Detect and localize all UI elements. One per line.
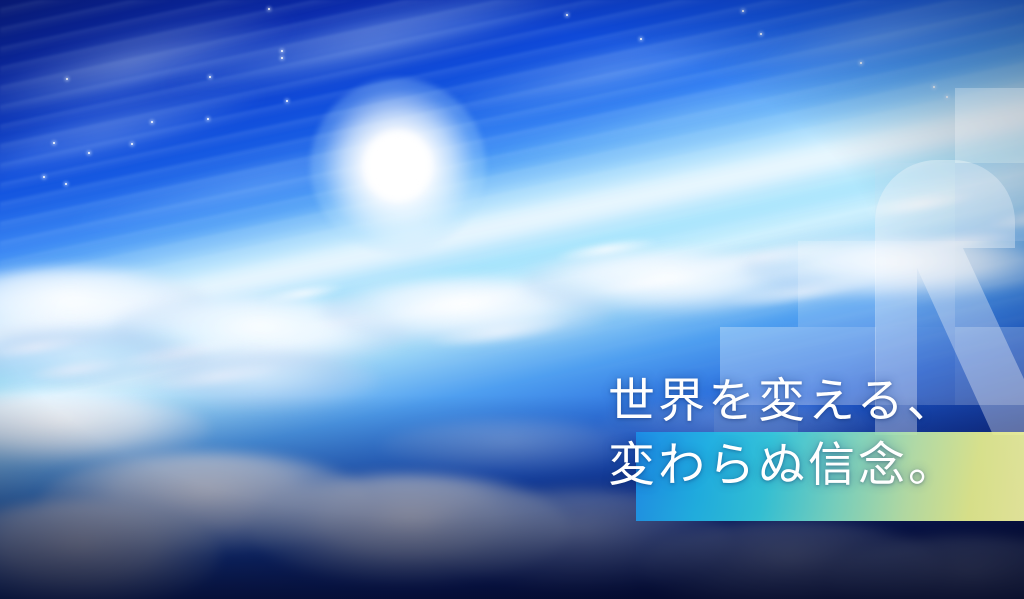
hero-banner: 世界を変える、 変わらぬ信念。 bbox=[0, 0, 1024, 599]
block-upper-right bbox=[875, 163, 955, 241]
block-top-right bbox=[955, 88, 1024, 163]
block-right-uppermost bbox=[955, 163, 1024, 241]
hero-tagline: 世界を変える、 変わらぬ信念。 bbox=[608, 370, 1024, 498]
tagline-line-2: 変わらぬ信念。 bbox=[608, 434, 1024, 498]
block-mid-center bbox=[798, 241, 876, 327]
tagline-line-1: 世界を変える、 bbox=[608, 370, 1024, 434]
block-mid-right bbox=[876, 241, 955, 327]
